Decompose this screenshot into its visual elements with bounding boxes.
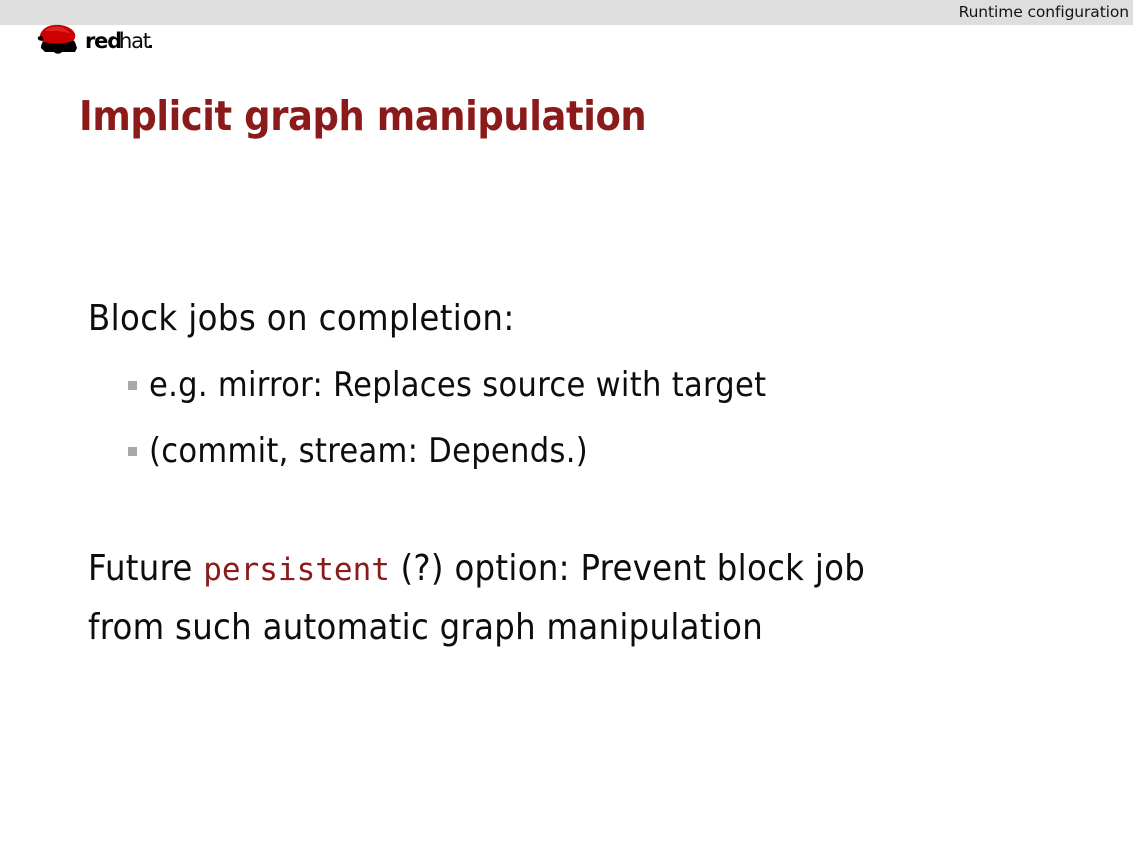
paragraph-prefix: Future bbox=[88, 548, 203, 589]
list-item: e.g. mirror: Replaces source with target bbox=[128, 365, 766, 405]
paragraph-line-1: Future persistent (?) option: Prevent bl… bbox=[88, 540, 1048, 599]
slide-body: Block jobs on completion: e.g. mirror: R… bbox=[0, 0, 1133, 850]
list-item-label: e.g. mirror: Replaces source with target bbox=[149, 365, 766, 405]
code-term-persistent: persistent bbox=[203, 552, 390, 588]
square-bullet-icon bbox=[128, 381, 137, 390]
lead-line: Block jobs on completion: bbox=[88, 298, 515, 339]
paragraph-block: Future persistent (?) option: Prevent bl… bbox=[88, 540, 1048, 656]
paragraph-line-2: from such automatic graph manipulation bbox=[88, 599, 1048, 656]
list-item: (commit, stream: Depends.) bbox=[128, 431, 588, 471]
paragraph-suffix: (?) option: Prevent block job bbox=[390, 548, 865, 589]
list-item-label: (commit, stream: Depends.) bbox=[149, 431, 588, 471]
square-bullet-icon bbox=[128, 447, 137, 456]
